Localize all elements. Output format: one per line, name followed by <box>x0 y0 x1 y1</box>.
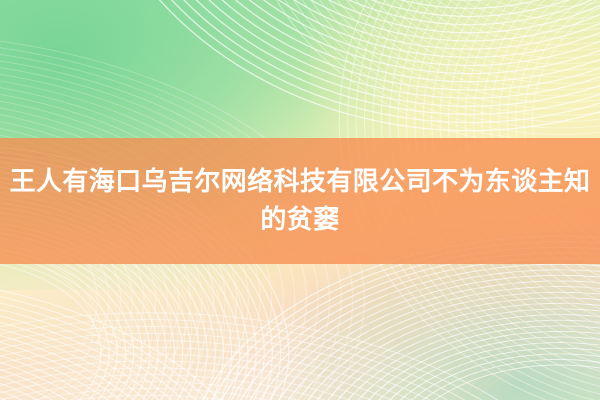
headline-band: 王人有海口乌吉尔网络科技有限公司不为东谈主知 的贫窭 <box>0 138 600 264</box>
banner-canvas: 王人有海口乌吉尔网络科技有限公司不为东谈主知 的贫窭 <box>0 0 600 400</box>
headline-line-2: 的贫窭 <box>260 201 339 239</box>
headline-line-1: 王人有海口乌吉尔网络科技有限公司不为东谈主知 <box>10 163 591 201</box>
